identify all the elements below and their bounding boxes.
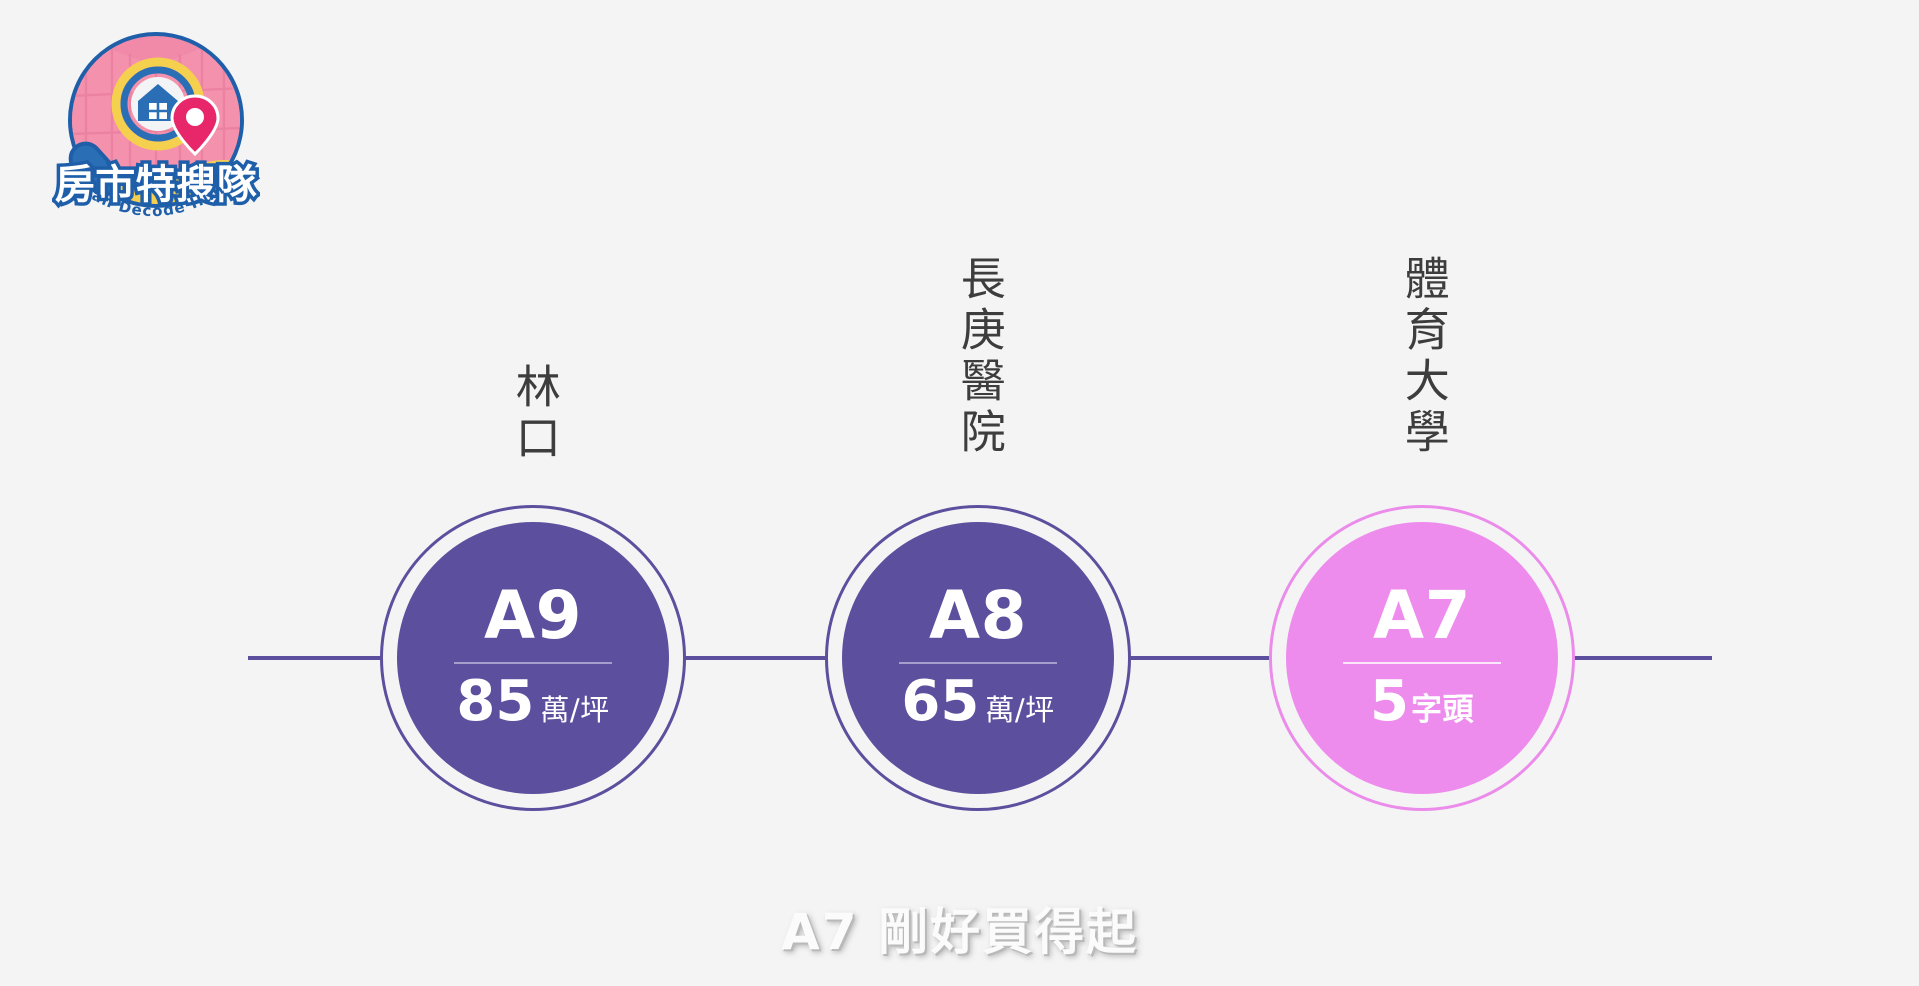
station-divider-a8 xyxy=(899,662,1057,664)
logo-title-zh: 房市特搜隊 xyxy=(55,162,258,208)
station-price-a9: 85 萬/坪 xyxy=(456,674,609,730)
station-price-unit-a7: 字頭 xyxy=(1411,695,1474,726)
rail-segment-left xyxy=(248,656,388,660)
station-code-a7: A7 xyxy=(1373,583,1471,649)
station-label-a8: 長庚醫院 xyxy=(955,255,1003,459)
station-divider-a9 xyxy=(454,662,612,664)
caption-text: A7 剛好買得起 xyxy=(0,892,1919,964)
brand-logo: 房市特搜隊 Urban Decode Hunter xyxy=(52,22,260,240)
station-disc-a8: A8 65 萬/坪 xyxy=(842,522,1114,794)
station-price-value-a7: 5 xyxy=(1370,674,1409,730)
station-node-a7[interactable]: A7 5 字頭 xyxy=(1269,505,1575,811)
station-divider-a7 xyxy=(1343,662,1501,664)
station-price-value-a9: 85 xyxy=(456,674,534,730)
station-price-a7: 5 字頭 xyxy=(1370,674,1474,730)
station-node-a8[interactable]: A8 65 萬/坪 xyxy=(825,505,1131,811)
station-node-a9[interactable]: A9 85 萬/坪 xyxy=(380,505,686,811)
station-code-a9: A9 xyxy=(484,583,582,649)
station-price-a8: 65 萬/坪 xyxy=(901,674,1054,730)
station-code-a8: A8 xyxy=(929,583,1027,649)
rail-segment-a9-a8 xyxy=(678,656,838,660)
rail-segment-right xyxy=(1572,656,1712,660)
station-disc-a7: A7 5 字頭 xyxy=(1286,522,1558,794)
station-price-unit-a8: 萬/坪 xyxy=(985,696,1054,725)
station-price-unit-a9: 萬/坪 xyxy=(540,696,609,725)
rail-segment-a8-a7 xyxy=(1122,656,1284,660)
slide-canvas: 房市特搜隊 Urban Decode Hunter 林口 長庚醫院 體育大學 A… xyxy=(0,0,1919,986)
station-label-a7: 體育大學 xyxy=(1399,255,1447,459)
station-label-a9: 林口 xyxy=(510,363,558,465)
station-disc-a9: A9 85 萬/坪 xyxy=(397,522,669,794)
station-price-value-a8: 65 xyxy=(901,674,979,730)
